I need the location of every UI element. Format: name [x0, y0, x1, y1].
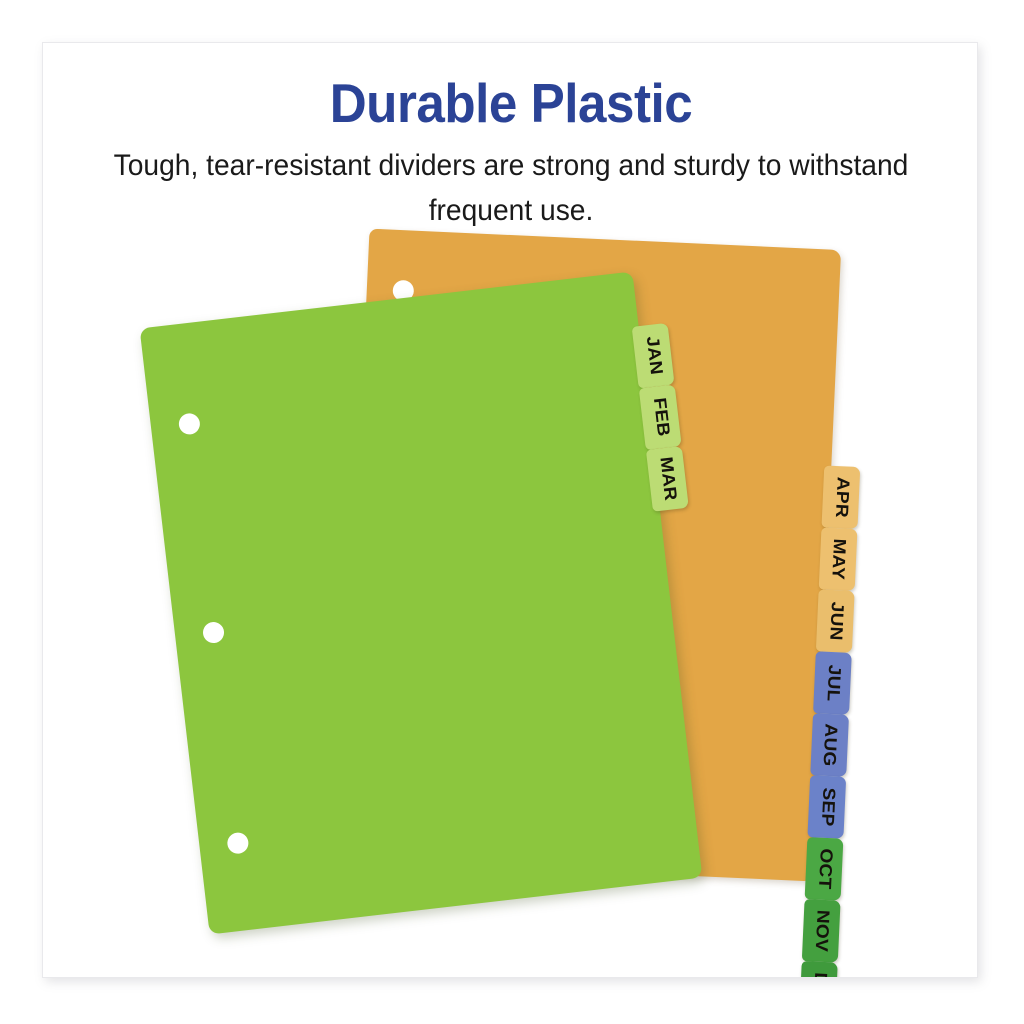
punch-hole — [202, 621, 225, 644]
divider-tab-jul: JUL — [813, 651, 852, 715]
divider-tab-jan: JAN — [632, 323, 675, 389]
divider-tab-mar: MAR — [646, 446, 689, 512]
tab-label: SEP — [816, 787, 838, 827]
tab-label: FEB — [648, 397, 673, 438]
divider-tab-apr: APR — [821, 465, 860, 529]
punch-hole — [226, 832, 249, 855]
green-divider-sheet: JAN FEB MAR — [140, 272, 703, 935]
tab-label: NOV — [810, 909, 832, 952]
divider-tab-nov: NOV — [802, 899, 841, 963]
tab-label: JUN — [824, 601, 846, 641]
divider-tab-feb: FEB — [639, 384, 682, 450]
divider-tab-may: MAY — [819, 527, 858, 591]
tab-label: DEC — [807, 972, 829, 978]
white-card-panel: Durable Plastic Tough, tear-resistant di… — [42, 42, 978, 978]
tab-label: JAN — [641, 335, 666, 376]
product-marketing-image: Durable Plastic Tough, tear-resistant di… — [0, 0, 1024, 1024]
divider-tab-jun: JUN — [816, 589, 855, 653]
tab-label: APR — [830, 476, 852, 518]
tab-label: OCT — [813, 848, 835, 890]
product-photo: APR MAY JUN JUL AUG SEP OCT — [43, 43, 978, 978]
divider-tab-aug: AUG — [810, 713, 849, 777]
tab-label: JUL — [822, 664, 844, 702]
punch-hole — [178, 412, 201, 435]
tab-label: AUG — [819, 723, 841, 767]
tab-label: MAY — [827, 538, 849, 580]
divider-tab-sep: SEP — [807, 775, 846, 839]
divider-tab-oct: OCT — [805, 837, 844, 901]
tab-label: MAR — [655, 456, 680, 502]
divider-tab-dec: DEC — [799, 961, 838, 978]
